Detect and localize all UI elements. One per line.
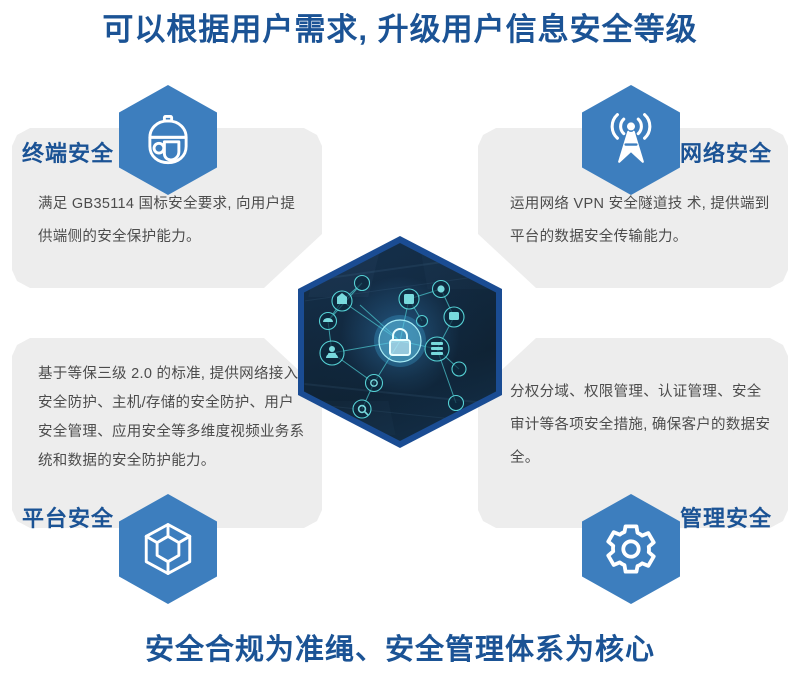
card-management-security-body: 分权分域、权限管理、认证管理、安全审计等各项安全措施, 确保客户的数据安全。: [510, 376, 776, 475]
card-management-security-title: 管理安全: [680, 505, 772, 533]
cube-icon: [139, 520, 197, 578]
gear-icon: [602, 520, 660, 578]
card-network-security-title: 网络安全: [680, 140, 772, 168]
dome-camera-icon: [139, 111, 197, 169]
page-footer-banner: 安全合规为准绳、安全管理体系为核心: [0, 628, 800, 672]
center-security-hexagon-image: [304, 243, 496, 441]
card-terminal-security-title: 终端安全: [22, 140, 114, 168]
broadcast-tower-icon: [602, 111, 660, 169]
card-platform-security-title: 平台安全: [22, 505, 114, 533]
page-title: 可以根据用户需求, 升级用户信息安全等级: [0, 8, 800, 52]
card-terminal-security-body: 满足 GB35114 国标安全要求, 向用户提供端侧的安全保护能力。: [38, 188, 302, 254]
network-nodes-diagram: [304, 243, 496, 441]
center-security-hexagon: [298, 236, 502, 448]
card-platform-security-body: 基于等保三级 2.0 的标准, 提供网络接入安全防护、主机/存储的安全防护、用户…: [38, 360, 306, 476]
card-network-security-body: 运用网络 VPN 安全隧道技 术, 提供端到平台的数据安全传输能力。: [510, 188, 774, 254]
